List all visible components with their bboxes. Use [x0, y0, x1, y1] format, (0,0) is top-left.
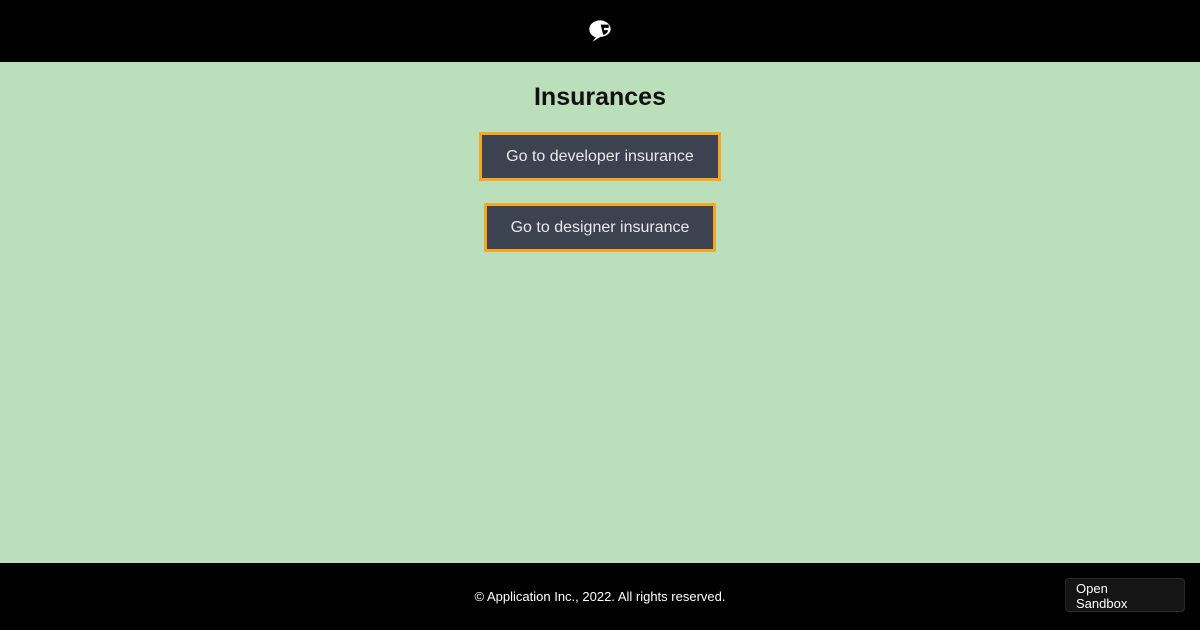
developer-insurance-row: Go to developer insurance	[0, 132, 1200, 181]
copyright-text: © Application Inc., 2022. All rights res…	[475, 589, 726, 605]
page-title: Insurances	[534, 82, 666, 112]
open-sandbox-button[interactable]: Open Sandbox	[1065, 578, 1185, 612]
designer-insurance-row: Go to designer insurance	[0, 203, 1200, 252]
go-to-designer-insurance-button[interactable]: Go to designer insurance	[484, 203, 717, 252]
site-footer: © Application Inc., 2022. All rights res…	[0, 563, 1200, 630]
open-sandbox-line-1: Open	[1076, 581, 1184, 596]
g-logo-icon	[585, 16, 615, 46]
open-sandbox-line-2: Sandbox	[1076, 596, 1184, 611]
go-to-developer-insurance-button[interactable]: Go to developer insurance	[479, 132, 721, 181]
main-content: Insurances Go to developer insurance Go …	[0, 62, 1200, 563]
site-header	[0, 0, 1200, 62]
page-root: Insurances Go to developer insurance Go …	[0, 0, 1200, 630]
